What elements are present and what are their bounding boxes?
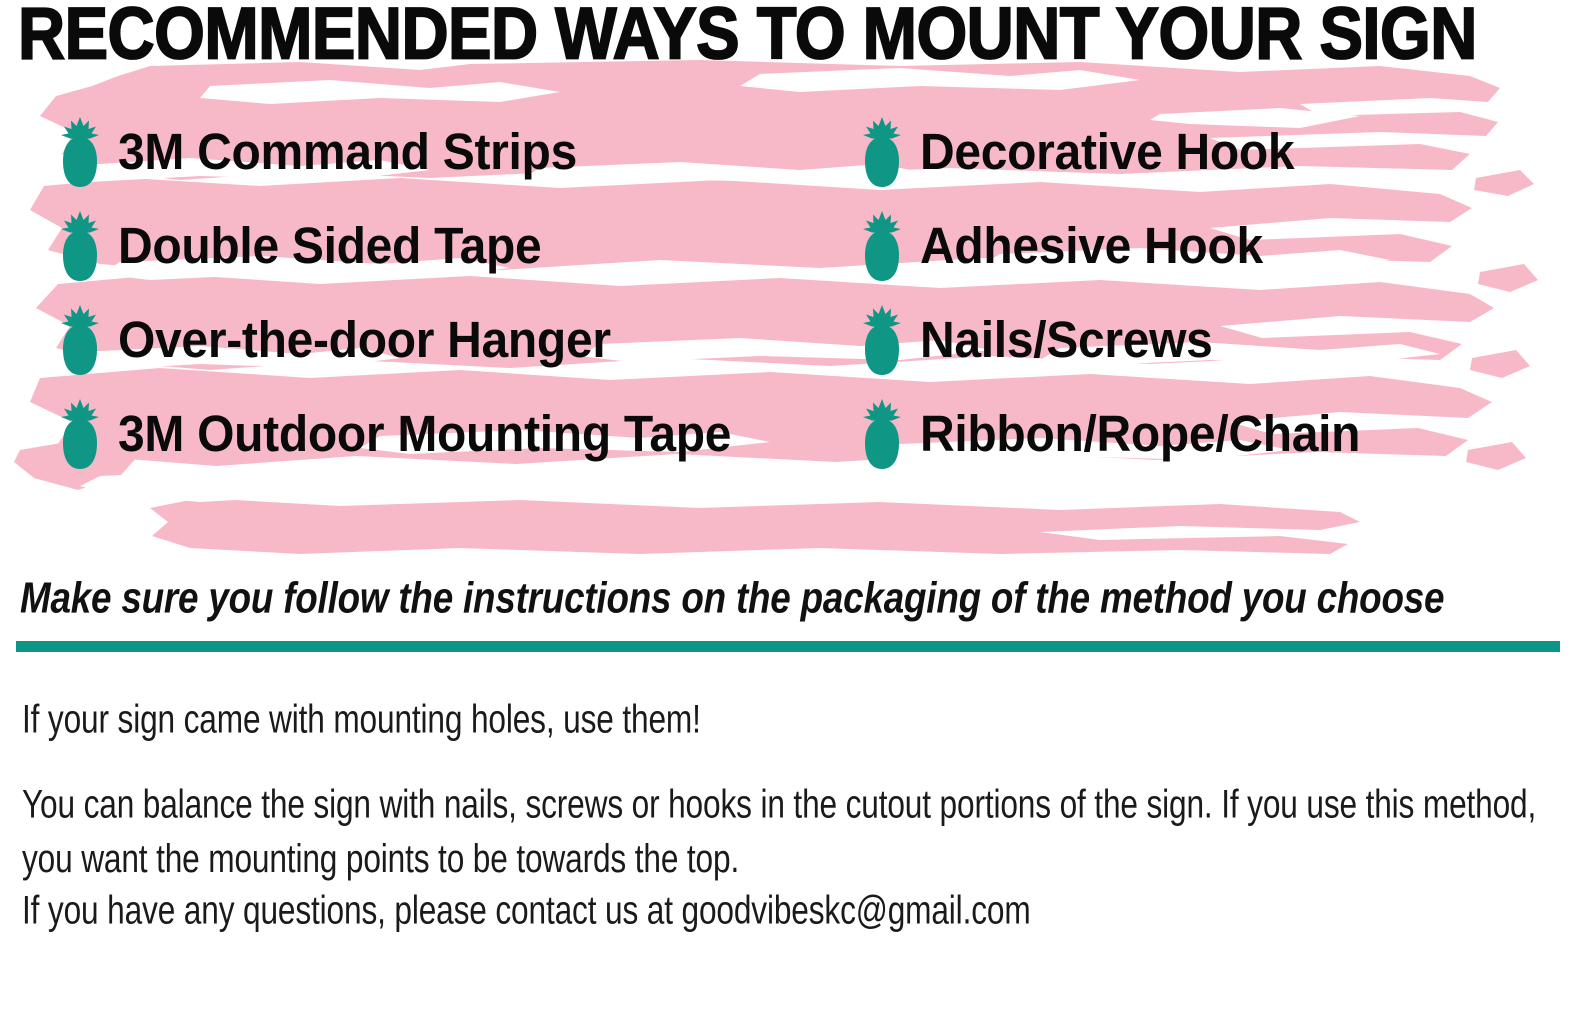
pineapple-icon	[862, 117, 902, 189]
list-item: 3M Command Strips	[60, 106, 860, 200]
pineapple-icon	[862, 305, 902, 377]
mounting-methods-left-column: 3M Command Strips Double Sided Tape	[60, 106, 860, 482]
packaging-instructions-note: Make sure you follow the instructions on…	[20, 570, 1560, 627]
pineapple-icon	[60, 211, 100, 283]
pineapple-icon	[60, 305, 100, 377]
mounting-methods-right-column: Decorative Hook Adhesive Hook	[862, 106, 1562, 482]
list-item-label: 3M Outdoor Mounting Tape	[118, 407, 731, 463]
list-item: Decorative Hook	[862, 106, 1562, 200]
list-item-label: Nails/Screws	[920, 313, 1213, 369]
pineapple-icon	[60, 117, 100, 189]
list-item-label: Adhesive Hook	[920, 219, 1263, 275]
list-item-label: Over-the-door Hanger	[118, 313, 611, 369]
list-item: Adhesive Hook	[862, 200, 1562, 294]
body-paragraph: You can balance the sign with nails, scr…	[22, 778, 1547, 887]
list-item-label: Double Sided Tape	[118, 219, 541, 275]
pineapple-icon	[862, 211, 902, 283]
mounting-instructions-sheet: RECOMMENDED WAYS TO MOUNT YOUR SIGN 3M C…	[0, 0, 1588, 1030]
body-paragraph-contact: If you have any questions, please contac…	[22, 884, 1547, 939]
list-item-label: 3M Command Strips	[118, 125, 577, 181]
teal-divider	[16, 641, 1560, 652]
list-item: Nails/Screws	[862, 294, 1562, 388]
list-item: Over-the-door Hanger	[60, 294, 860, 388]
pineapple-icon	[862, 399, 902, 471]
list-item-label: Decorative Hook	[920, 125, 1294, 181]
list-item: Double Sided Tape	[60, 200, 860, 294]
pineapple-icon	[60, 399, 100, 471]
list-item: Ribbon/Rope/Chain	[862, 388, 1562, 482]
list-item: 3M Outdoor Mounting Tape	[60, 388, 860, 482]
list-item-label: Ribbon/Rope/Chain	[920, 407, 1360, 463]
body-paragraph: If your sign came with mounting holes, u…	[22, 693, 1547, 748]
page-title: RECOMMENDED WAYS TO MOUNT YOUR SIGN	[18, 0, 1588, 70]
